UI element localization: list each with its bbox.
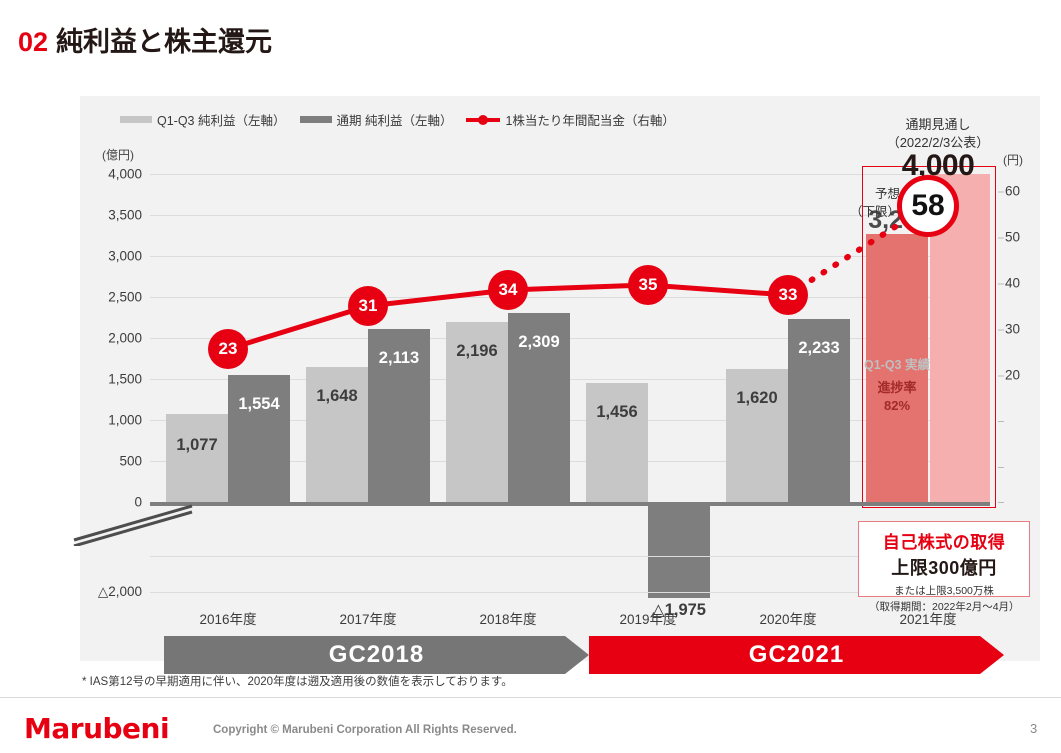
q1q3-actual-label: Q1-Q3 実績 bbox=[864, 354, 930, 373]
legend-item-q1q3: Q1-Q3 純利益（左軸） bbox=[120, 110, 286, 129]
bar-2016-fullyear: 1,554 bbox=[228, 375, 290, 502]
legend-item-dividend: 1株当たり年間配当金（右軸） bbox=[466, 110, 674, 129]
progress-rate: 進捗率 82% bbox=[864, 379, 930, 414]
chart-panel: Q1-Q3 純利益（左軸） 通期 純利益（左軸） 1株当たり年間配当金（右軸） … bbox=[80, 96, 1040, 661]
ytick-r-40: 40 bbox=[1005, 276, 1020, 291]
xlabel-2020: 2020年度 bbox=[759, 608, 816, 628]
slide-number: 02 bbox=[18, 27, 48, 57]
dividend-marker-2019: 35 bbox=[628, 265, 668, 305]
dividend-marker-2018: 34 bbox=[488, 270, 528, 310]
full-year-forecast-callout: 通期見通し （2022/2/3公表） 4,000 bbox=[848, 116, 1028, 183]
legend-swatch-light-bar-icon bbox=[120, 116, 152, 123]
dividend-marker-2021-forecast: 58 bbox=[897, 175, 959, 237]
ytick-4000: 4,000 bbox=[108, 167, 142, 182]
buyback-limit-shares: または上限3,500万株 bbox=[869, 583, 1019, 598]
q1q3-progress-annotation: Q1-Q3 実績 進捗率 82% bbox=[864, 354, 930, 414]
bar-label-2017-fullyear: 2,113 bbox=[379, 349, 419, 368]
left-axis-unit: (億円) bbox=[102, 146, 134, 163]
ytick-3500: 3,500 bbox=[108, 208, 142, 223]
buyback-title: 自己株式の取得 bbox=[869, 528, 1019, 553]
bar-label-2018-fullyear: 2,309 bbox=[518, 333, 559, 352]
zero-axis-line bbox=[150, 502, 990, 506]
ytick-1500: 1,500 bbox=[108, 372, 142, 387]
legend-label-dividend: 1株当たり年間配当金（右軸） bbox=[505, 110, 674, 129]
legend-label-fullyear: 通期 純利益（左軸） bbox=[337, 110, 453, 129]
xlabel-2018: 2018年度 bbox=[479, 608, 536, 628]
bar-2020-fullyear: 2,233 bbox=[788, 319, 850, 502]
legend-item-fullyear: 通期 純利益（左軸） bbox=[300, 110, 453, 129]
ytick-1000: 1,000 bbox=[108, 413, 142, 428]
forecast-callout-line1: 通期見通し bbox=[848, 116, 1028, 134]
progress-rate-label: 進捗率 bbox=[877, 380, 916, 395]
xlabel-2017: 2017年度 bbox=[339, 608, 396, 628]
gc2021-arrow: GC2021 bbox=[589, 636, 1004, 674]
forecast-lower-limit-line1: 予想 bbox=[875, 187, 900, 201]
ytick-r-20: 20 bbox=[1005, 368, 1020, 383]
legend-swatch-dark-bar-icon bbox=[300, 116, 332, 123]
bar-2017-q1q3: 1,648 bbox=[306, 367, 368, 502]
progress-rate-value: 82% bbox=[884, 398, 910, 413]
bar-2019-q1q3: 1,456 bbox=[586, 383, 648, 502]
footnote: * IAS第12号の早期適用に伴い、2020年度は遡及適用後の数値を表示しており… bbox=[82, 673, 513, 689]
bar-label-2016-fullyear: 1,554 bbox=[238, 395, 279, 414]
plot-area: 1,077 1,554 1,648 2,113 2,196 2,309 1,45… bbox=[150, 174, 990, 502]
bar-label-2017-q1q3: 1,648 bbox=[316, 387, 357, 406]
forecast-lower-limit-label: 予想 （下限） bbox=[805, 186, 900, 221]
bar-2016-q1q3: 1,077 bbox=[166, 414, 228, 502]
bar-label-2019-q1q3: 1,456 bbox=[596, 403, 637, 422]
ytick-minus2000: △2,000 bbox=[98, 584, 142, 600]
axis-break-icon bbox=[70, 500, 200, 546]
ytick-2500: 2,500 bbox=[108, 290, 142, 305]
slide-title-text: 純利益と株主還元 bbox=[56, 27, 272, 57]
page-number: 3 bbox=[1030, 721, 1037, 736]
dividend-marker-2017: 31 bbox=[348, 286, 388, 326]
xlabel-2021: 2021年度 bbox=[899, 608, 956, 628]
bar-2021-q1q3: 3,274 Q1-Q3 実績 進捗率 82% bbox=[866, 234, 928, 502]
footer-divider bbox=[0, 697, 1061, 698]
chart-legend: Q1-Q3 純利益（左軸） 通期 純利益（左軸） 1株当たり年間配当金（右軸） bbox=[120, 110, 684, 129]
copyright-text: Copyright © Marubeni Corporation All Rig… bbox=[213, 724, 517, 736]
bar-label-2020-q1q3: 1,620 bbox=[736, 389, 777, 408]
bar-label-2018-q1q3: 2,196 bbox=[456, 342, 497, 361]
legend-swatch-line-marker-icon bbox=[466, 114, 500, 126]
ytick-r-60: 60 bbox=[1005, 184, 1020, 199]
bar-label-2020-fullyear: 2,233 bbox=[798, 339, 839, 358]
ytick-r-50: 50 bbox=[1005, 230, 1020, 245]
ytick-2000: 2,000 bbox=[108, 331, 142, 346]
ytick-500: 500 bbox=[119, 454, 142, 469]
ytick-r-30: 30 bbox=[1005, 322, 1020, 337]
legend-label-q1q3: Q1-Q3 純利益（左軸） bbox=[157, 110, 286, 129]
dividend-marker-2016: 23 bbox=[208, 329, 248, 369]
page-title: 02純利益と株主還元 bbox=[18, 20, 272, 59]
xlabel-2019: 2019年度 bbox=[619, 608, 676, 628]
bar-2018-fullyear: 2,309 bbox=[508, 313, 570, 502]
ytick-3000: 3,000 bbox=[108, 249, 142, 264]
left-axis-ticks: 4,000 3,500 3,000 2,500 2,000 1,500 1,00… bbox=[80, 174, 142, 502]
xlabel-2016: 2016年度 bbox=[199, 608, 256, 628]
gc2018-arrow: GC2018 bbox=[164, 636, 589, 674]
forecast-lower-limit-line2: （下限） bbox=[850, 205, 900, 219]
bar-2018-q1q3: 2,196 bbox=[446, 322, 508, 502]
marubeni-logo: Marubeni bbox=[24, 712, 169, 745]
buyback-limit-amount: 上限300億円 bbox=[869, 554, 1019, 580]
bar-2020-q1q3: 1,620 bbox=[726, 369, 788, 502]
share-buyback-box: 自己株式の取得 上限300億円 または上限3,500万株 （取得期間：2022年… bbox=[858, 521, 1030, 597]
x-axis-labels: 2016年度 2017年度 2018年度 2019年度 2020年度 2021年… bbox=[150, 608, 990, 632]
dividend-marker-2020: 33 bbox=[768, 275, 808, 315]
bar-label-2016-q1q3: 1,077 bbox=[176, 436, 217, 455]
bar-2017-fullyear: 2,113 bbox=[368, 329, 430, 502]
gc-timeline: GC2018 GC2021 bbox=[164, 636, 1004, 674]
right-axis-ticks: 60 50 40 30 20 bbox=[1005, 174, 1055, 554]
